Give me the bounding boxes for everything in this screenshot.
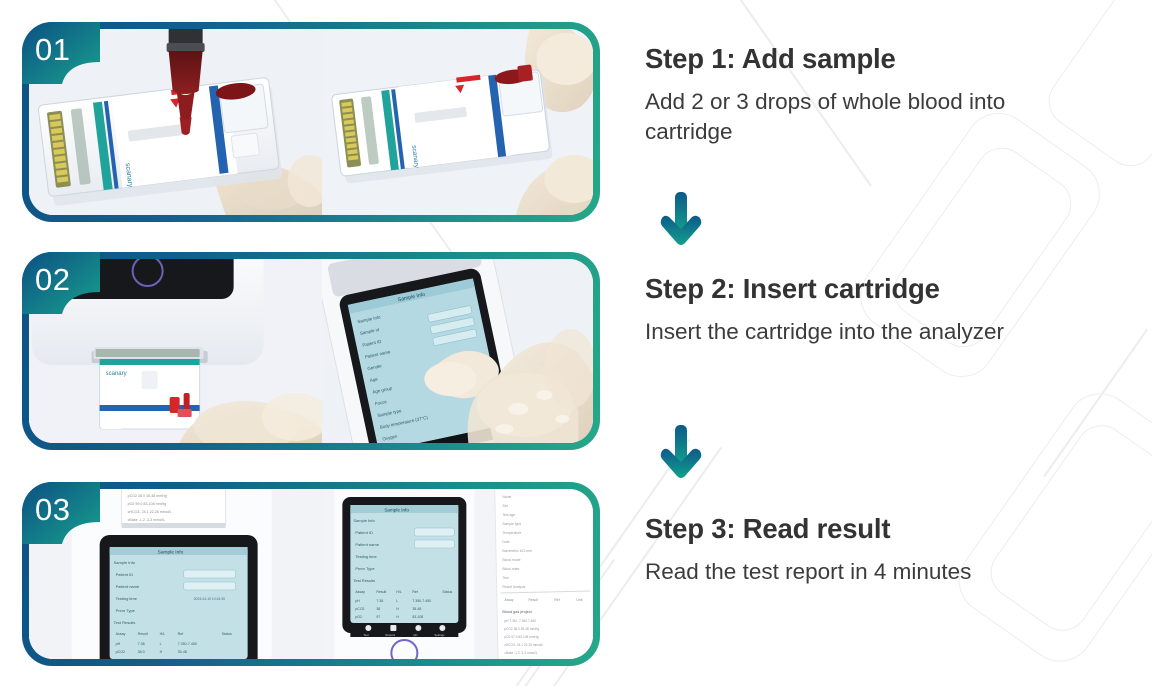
svg-text:Result: Result [529, 598, 539, 602]
svg-text:Ref: Ref [555, 598, 560, 602]
svg-text:pCO2 38.0 35-48 mm: pCO2 38.0 35-48 mmHg [128, 494, 167, 498]
step-card-3: Blood gas project pH 7.38 L 7.35-7.45 pC… [22, 482, 600, 666]
svg-text:Ref: Ref [413, 590, 418, 594]
svg-text:pH 7.38 L 7.350-7.450: pH 7.38 L 7.350-7.450 [505, 619, 537, 623]
photo-add-sample-hold: scanary [322, 29, 593, 215]
svg-text:pH 7.38 L 7.35-7.45: pH 7.38 L 7.35-7.45 [128, 489, 160, 490]
svg-text:35-48: 35-48 [178, 650, 187, 654]
steps-column: Step 1: Add sample Add 2 or 3 drops of w… [645, 0, 1152, 686]
svg-text:pCO2: pCO2 [356, 607, 365, 611]
svg-text:35-48: 35-48 [413, 607, 422, 611]
svg-text:Settings: Settings [435, 633, 446, 637]
svg-text:Pnmr Type: Pnmr Type [116, 608, 136, 613]
svg-text:Patient ID: Patient ID [116, 572, 134, 577]
photo-read-report: Sample Info Sample Info Patient ID Patie… [322, 489, 593, 659]
svg-text:Blood gas project: Blood gas project [503, 610, 533, 614]
svg-text:Blood mode: Blood mode [503, 558, 521, 562]
svg-text:Pnmr Type: Pnmr Type [356, 566, 376, 571]
card-badge-2: 02 [22, 252, 104, 312]
step-2: Step 2: Insert cartridge Insert the cart… [645, 272, 1145, 347]
svg-text:Status: Status [443, 590, 453, 594]
svg-text:L: L [397, 599, 399, 603]
arrow-step-1-to-2 [658, 192, 704, 246]
svg-text:pH: pH [116, 642, 121, 646]
infographic-root: scanary [0, 0, 1152, 686]
svg-text:Testing time: Testing time [116, 596, 138, 601]
svg-text:Date: Date [503, 540, 510, 544]
svg-text:Sample Info: Sample Info [158, 550, 184, 556]
svg-text:Sample Info: Sample Info [114, 560, 136, 565]
svg-text:Sample Info: Sample Info [354, 518, 376, 523]
svg-text:7.350-7.450: 7.350-7.450 [178, 642, 197, 646]
svg-text:38.0: 38.0 [138, 650, 145, 654]
svg-text:Assay: Assay [505, 598, 515, 602]
svg-text:pO2 97.0 83-108 m: pO2 97.0 83-108 mmHg [505, 635, 539, 639]
svg-text:Ref: Ref [178, 632, 184, 636]
svg-text:QC: QC [414, 633, 418, 637]
svg-text:7.350-7.450: 7.350-7.450 [413, 599, 432, 603]
step-3: Step 3: Read result Read the test report… [645, 512, 1145, 587]
svg-text:Assay: Assay [356, 590, 366, 594]
svg-text:38: 38 [377, 607, 381, 611]
photo-insert-handheld: Sample Info Sample Info Sample id Patien… [322, 259, 593, 443]
step-card-3-photos: Blood gas project pH 7.38 L 7.35-7.45 pC… [29, 489, 593, 659]
svg-text:Result: Result [377, 590, 387, 594]
svg-text:Test Results: Test Results [114, 620, 136, 625]
svg-text:83-108: 83-108 [413, 615, 424, 619]
svg-text:Temperature: Temperature [503, 531, 522, 535]
svg-text:Patient ID: Patient ID [356, 530, 374, 535]
svg-text:Barometric 613 mm: Barometric 613 mm [503, 549, 533, 553]
step-card-2-photos: scanary [29, 259, 593, 443]
svg-text:97: 97 [377, 615, 381, 619]
arrow-step-2-to-3 [658, 425, 704, 479]
svg-text:L: L [160, 642, 162, 646]
svg-text:Sex: Sex [503, 504, 509, 508]
svg-text:Name: Name [503, 495, 512, 499]
svg-text:Patient name: Patient name [356, 542, 380, 547]
card-badge-1-label: 01 [35, 28, 70, 72]
svg-text:Result Analysis: Result Analysis [503, 585, 526, 589]
step-3-title: Step 3: Read result [645, 512, 1145, 546]
svg-text:pO2 99.0 83-108 mm: pO2 99.0 83-108 mmHg [128, 502, 167, 506]
svg-text:Testing time: Testing time [356, 554, 378, 559]
svg-text:pCO2 38.0 35-48 m: pCO2 38.0 35-48 mmHg [505, 627, 540, 631]
svg-text:7.38: 7.38 [377, 599, 384, 603]
svg-text:pCO2: pCO2 [116, 650, 125, 654]
svg-text:Patient name: Patient name [116, 584, 140, 589]
svg-text:Sample type: Sample type [503, 522, 522, 526]
svg-text:Blood state: Blood state [503, 567, 520, 571]
svg-text:H/L: H/L [397, 590, 403, 594]
svg-text:cBase -1.2 -3-3 m: cBase -1.2 -3-3 mmol/L [128, 518, 165, 522]
svg-text:Result: Result [138, 632, 148, 636]
svg-text:Patient ID: Patient ID [503, 489, 518, 490]
svg-text:Test: Test [503, 576, 509, 580]
step-1-description: Add 2 or 3 drops of whole blood into car… [645, 87, 1075, 147]
step-card-2: scanary [22, 252, 600, 450]
svg-text:cHCO3- 24.1 22-26 m: cHCO3- 24.1 22-26 mmol/L [128, 510, 172, 514]
step-card-1: scanary [22, 22, 600, 222]
step-1: Step 1: Add sample Add 2 or 3 drops of w… [645, 42, 1145, 147]
svg-text:H/L: H/L [160, 632, 166, 636]
card-badge-1: 01 [22, 22, 104, 82]
svg-text:Test: Test [364, 633, 369, 637]
step-card-1-photos: scanary [29, 29, 593, 215]
svg-text:cHCO3- 24.1 22-26 mmo: cHCO3- 24.1 22-26 mmol/L [505, 643, 544, 647]
svg-text:cBase -1.2 -3-3 m: cBase -1.2 -3-3 mmol/L [505, 651, 538, 655]
svg-text:Test Results: Test Results [354, 578, 376, 583]
step-1-title: Step 1: Add sample [645, 42, 1145, 76]
svg-text:pH: pH [356, 599, 361, 603]
svg-text:7.38: 7.38 [138, 642, 145, 646]
svg-text:Test age: Test age [503, 513, 516, 517]
svg-text:Unit: Unit [577, 598, 583, 602]
card-badge-3-label: 03 [35, 488, 70, 532]
svg-text:Sample Info: Sample Info [385, 508, 410, 513]
svg-text:Reports: Reports [386, 633, 396, 637]
svg-text:scanary: scanary [106, 371, 127, 377]
svg-text:Assay: Assay [116, 632, 126, 636]
card-badge-2-label: 02 [35, 258, 70, 302]
step-2-description: Insert the cartridge into the analyzer [645, 317, 1075, 347]
svg-text:2024-04-10 10:24:30: 2024-04-10 10:24:30 [194, 597, 226, 601]
step-3-description: Read the test report in 4 minutes [645, 557, 1075, 587]
step-2-title: Step 2: Insert cartridge [645, 272, 1145, 306]
card-badge-3: 03 [22, 482, 104, 542]
svg-text:H: H [160, 650, 163, 654]
svg-text:pO2: pO2 [356, 615, 363, 619]
svg-text:Status: Status [222, 632, 232, 636]
